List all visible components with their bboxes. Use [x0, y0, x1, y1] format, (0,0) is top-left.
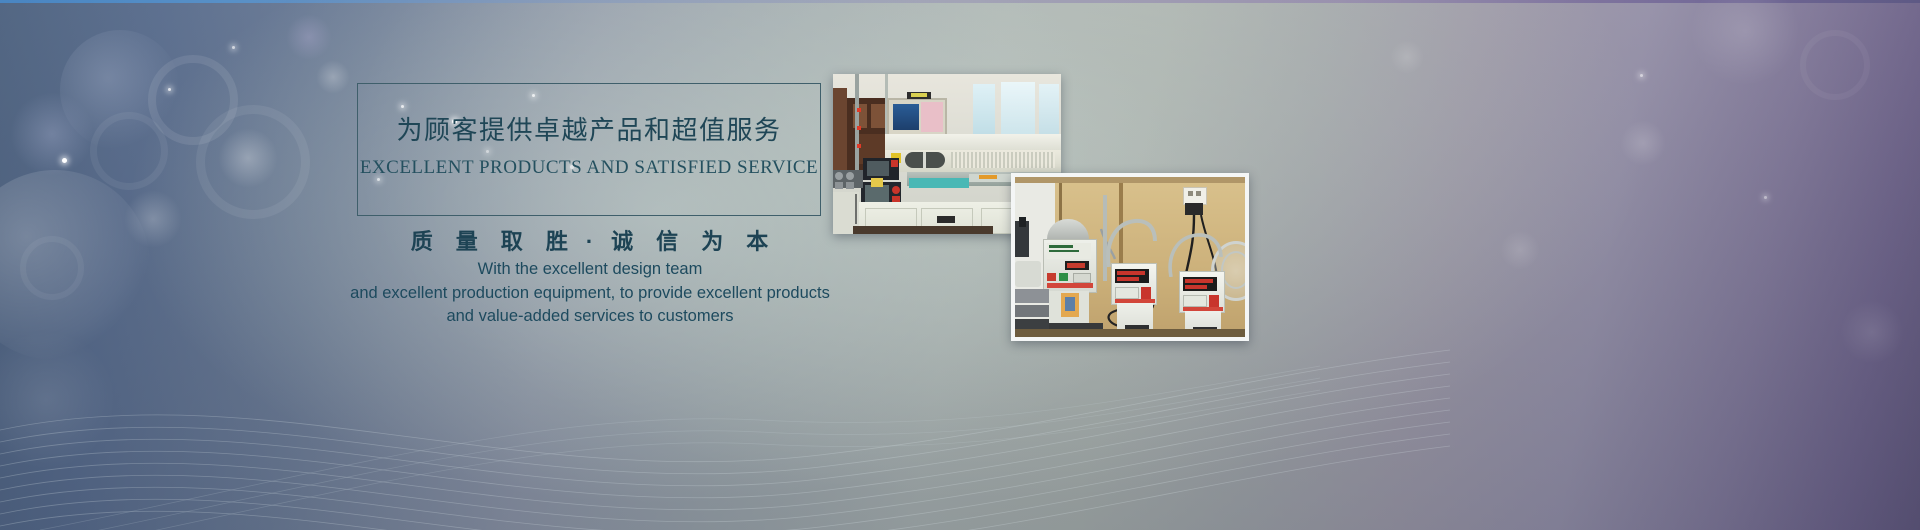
- slogan-char: 量: [456, 229, 479, 254]
- slogan-chinese: 质量取胜·诚信为本: [330, 224, 850, 256]
- slogan-char: 胜: [546, 229, 569, 254]
- photo-testing-equipment: [1011, 173, 1249, 341]
- slogan-char: 取: [501, 229, 524, 254]
- paragraph-line: With the excellent design team: [280, 258, 900, 282]
- promo-banner: 为顾客提供卓越产品和超值服务 EXCELLENT PRODUCTS AND SA…: [0, 0, 1920, 530]
- top-accent-line: [0, 0, 1920, 3]
- description-paragraph: With the excellent design team and excel…: [280, 258, 900, 329]
- slogan-char: 为: [701, 229, 724, 254]
- slogan-char: 诚: [611, 229, 634, 254]
- slogan-separator-dot: ·: [586, 229, 594, 254]
- slogan-char: 本: [746, 229, 769, 254]
- slogan-char: 信: [656, 229, 679, 254]
- paragraph-line: and excellent production equipment, to p…: [280, 282, 900, 306]
- headline-frame: [357, 83, 821, 216]
- headline-chinese: 为顾客提供卓越产品和超值服务: [357, 110, 821, 147]
- paragraph-line: and value-added services to customers: [280, 305, 900, 329]
- headline-english: EXCELLENT PRODUCTS AND SATISFIED SERVICE: [357, 157, 821, 179]
- slogan-char: 质: [411, 229, 434, 254]
